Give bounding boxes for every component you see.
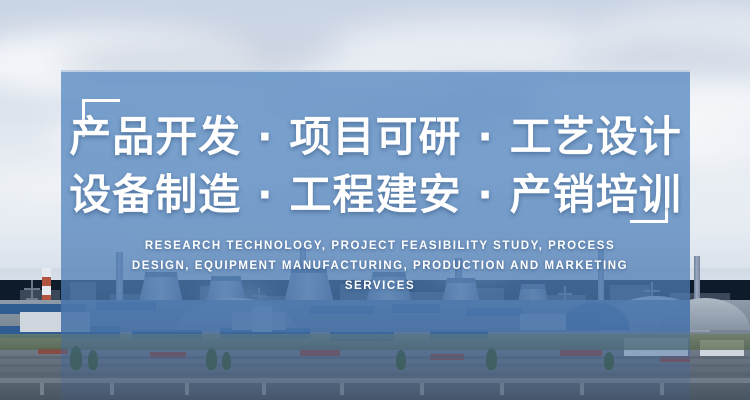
blue-overlay-fade: [61, 300, 690, 400]
subtitle-text: RESEARCH TECHNOLOGY, PROJECT FEASIBILITY…: [130, 236, 630, 296]
headline-line-1: 产品开发 · 项目可研 · 工艺设计: [61, 112, 690, 162]
headline-line-2: 设备制造 · 工程建安 · 产销培训: [61, 170, 690, 220]
hero-banner: 产品开发 · 项目可研 · 工艺设计 设备制造 · 工程建安 · 产销培训 RE…: [0, 0, 750, 400]
